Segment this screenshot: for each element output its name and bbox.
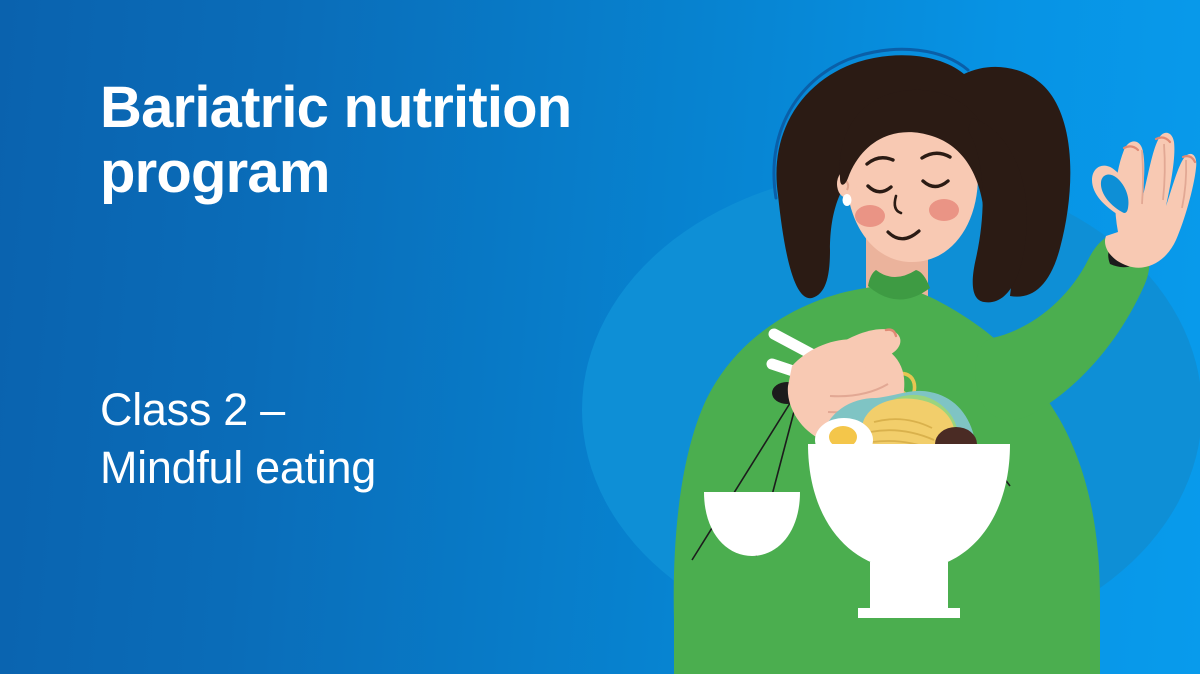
cheek-blush-right — [929, 199, 959, 221]
bowl-base — [858, 608, 960, 618]
cheek-blush-left — [855, 205, 885, 227]
subtitle-block: Class 2 – Mindful eating — [100, 381, 660, 496]
ok-gesture-hand — [1092, 133, 1196, 268]
title-block: Bariatric nutrition program — [100, 76, 720, 206]
bowl-foot — [870, 562, 948, 616]
class-subtitle: Class 2 – Mindful eating — [100, 381, 660, 496]
presentation-slide: Bariatric nutrition program Class 2 – Mi… — [0, 0, 1200, 674]
page-title: Bariatric nutrition program — [100, 76, 720, 206]
earring — [843, 194, 852, 206]
